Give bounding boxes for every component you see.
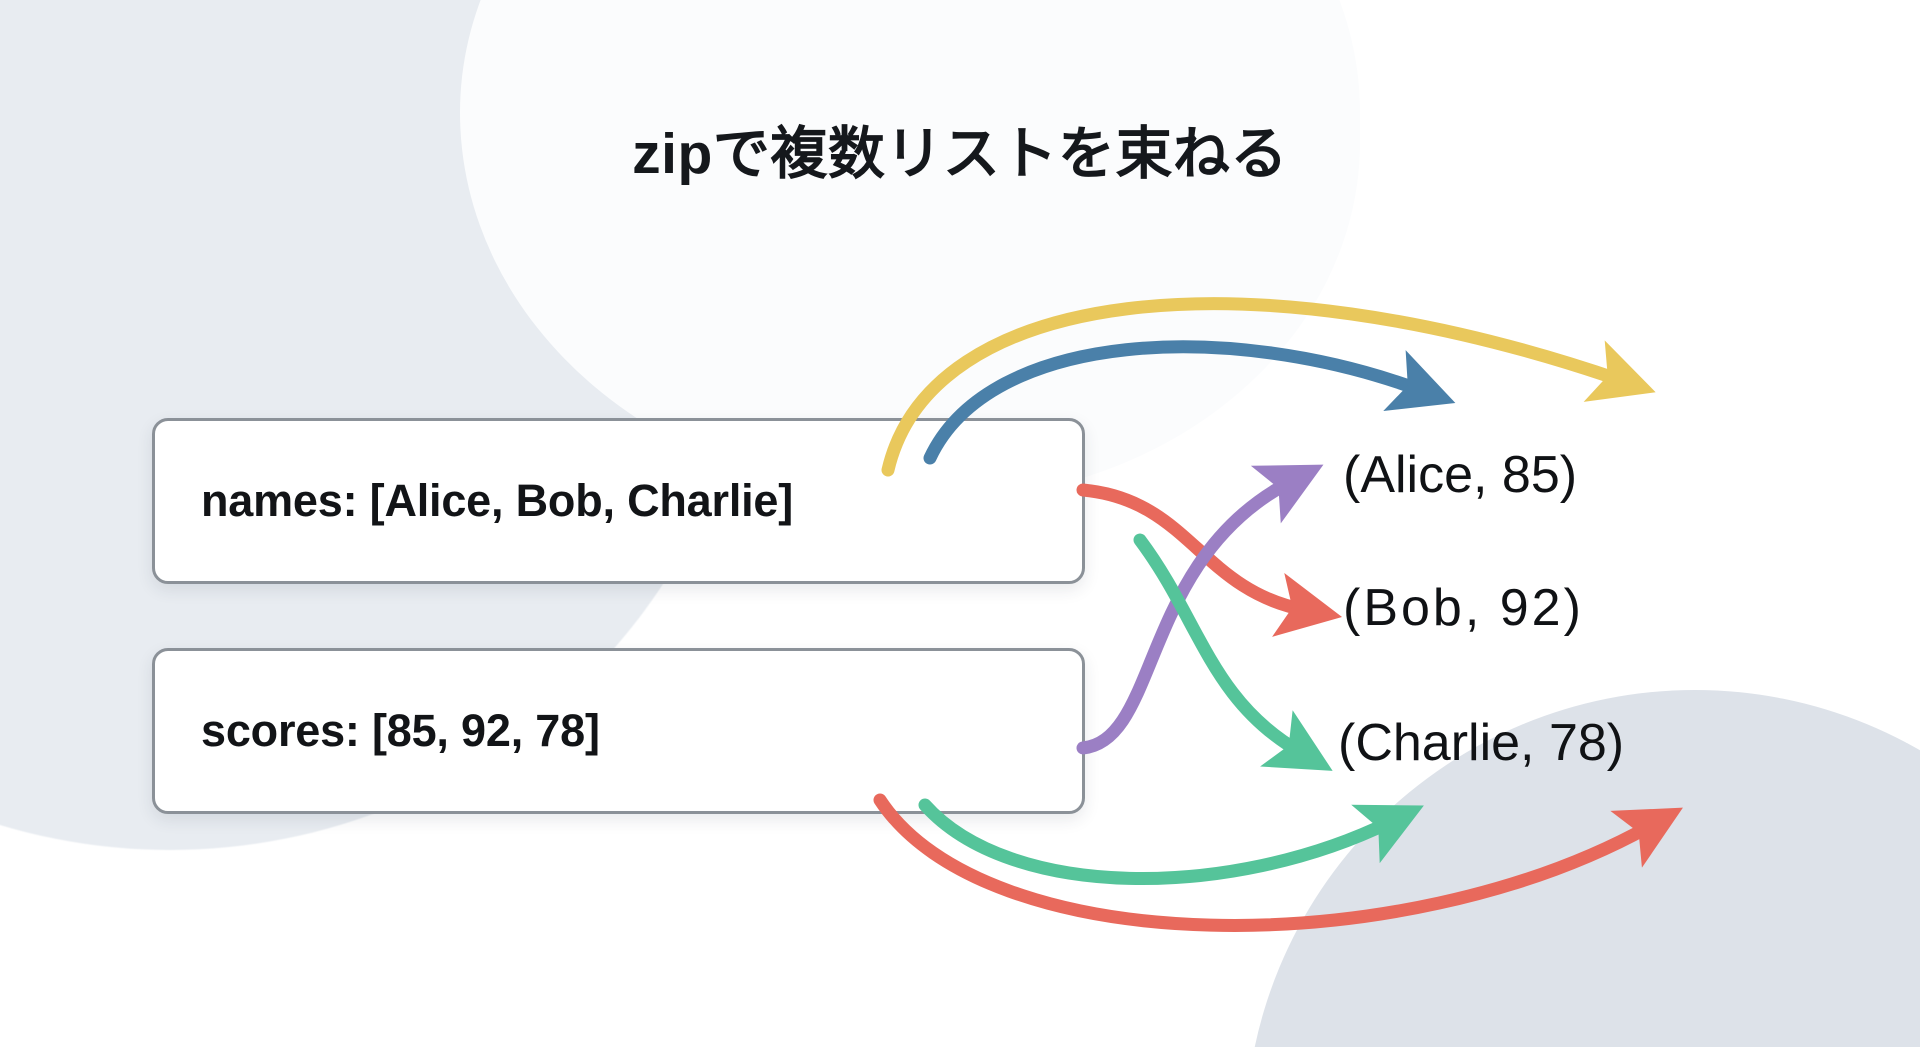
arrow-layer [0, 0, 1920, 1047]
slide-canvas: zipで複数リストを束ねる names: [Alice, Bob, Charli… [0, 0, 1920, 1047]
arrow-scores-bottom-green [925, 805, 1390, 879]
arrow-names-to-bob-red [1083, 490, 1305, 610]
arrow-names-to-alice-blue [930, 347, 1420, 458]
